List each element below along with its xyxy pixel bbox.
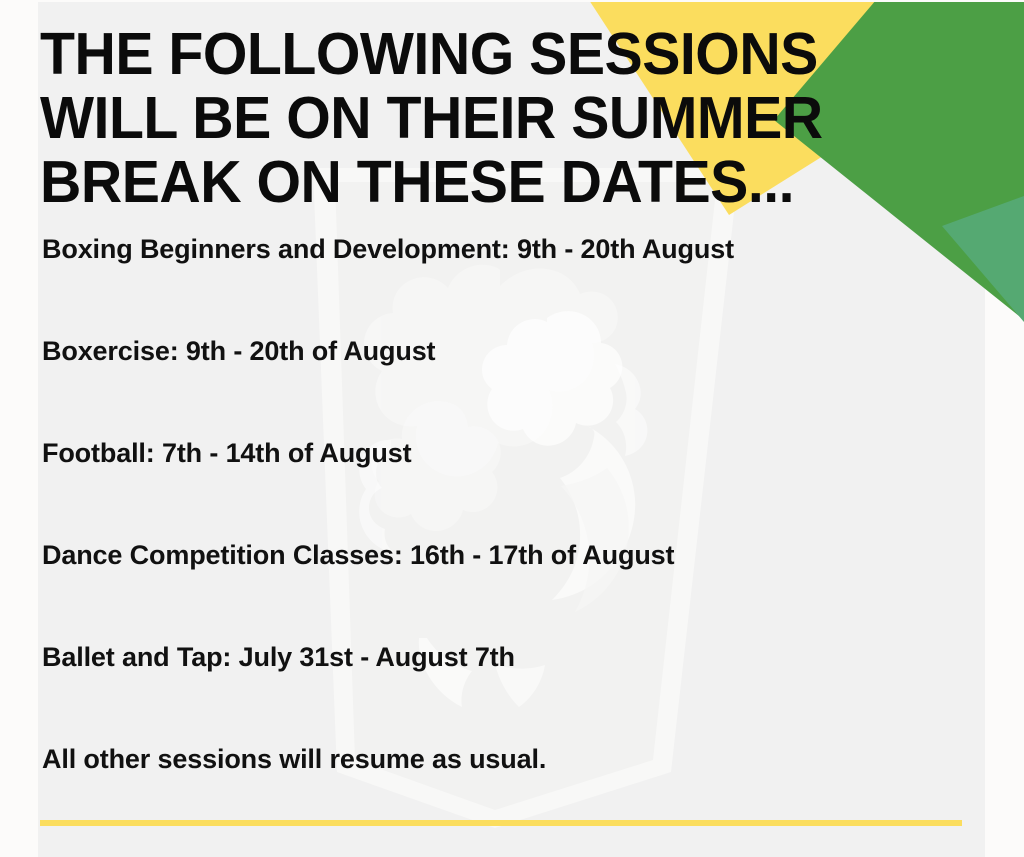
list-item: Dance Competition Classes: 16th - 17th o…	[42, 538, 992, 640]
list-item: Boxercise: 9th - 20th of August	[42, 334, 992, 436]
headline-line-1: THE FOLLOWING SESSIONS	[40, 22, 806, 86]
list-item: Ballet and Tap: July 31st - August 7th	[42, 640, 992, 742]
top-hairline	[0, 0, 1024, 2]
list-item: Boxing Beginners and Development: 9th - …	[42, 232, 992, 334]
session-break-list: Boxing Beginners and Development: 9th - …	[42, 232, 992, 776]
page-title: THE FOLLOWING SESSIONS WILL BE ON THEIR …	[40, 22, 806, 214]
headline-line-3: BREAK ON THESE DATES...	[40, 150, 806, 214]
list-item: All other sessions will resume as usual.	[42, 742, 992, 776]
headline-line-2: WILL BE ON THEIR SUMMER	[40, 86, 806, 150]
summer-break-poster: THE FOLLOWING SESSIONS WILL BE ON THEIR …	[0, 0, 1024, 857]
list-item: Football: 7th - 14th of August	[42, 436, 992, 538]
yellow-divider-rule	[40, 820, 962, 826]
